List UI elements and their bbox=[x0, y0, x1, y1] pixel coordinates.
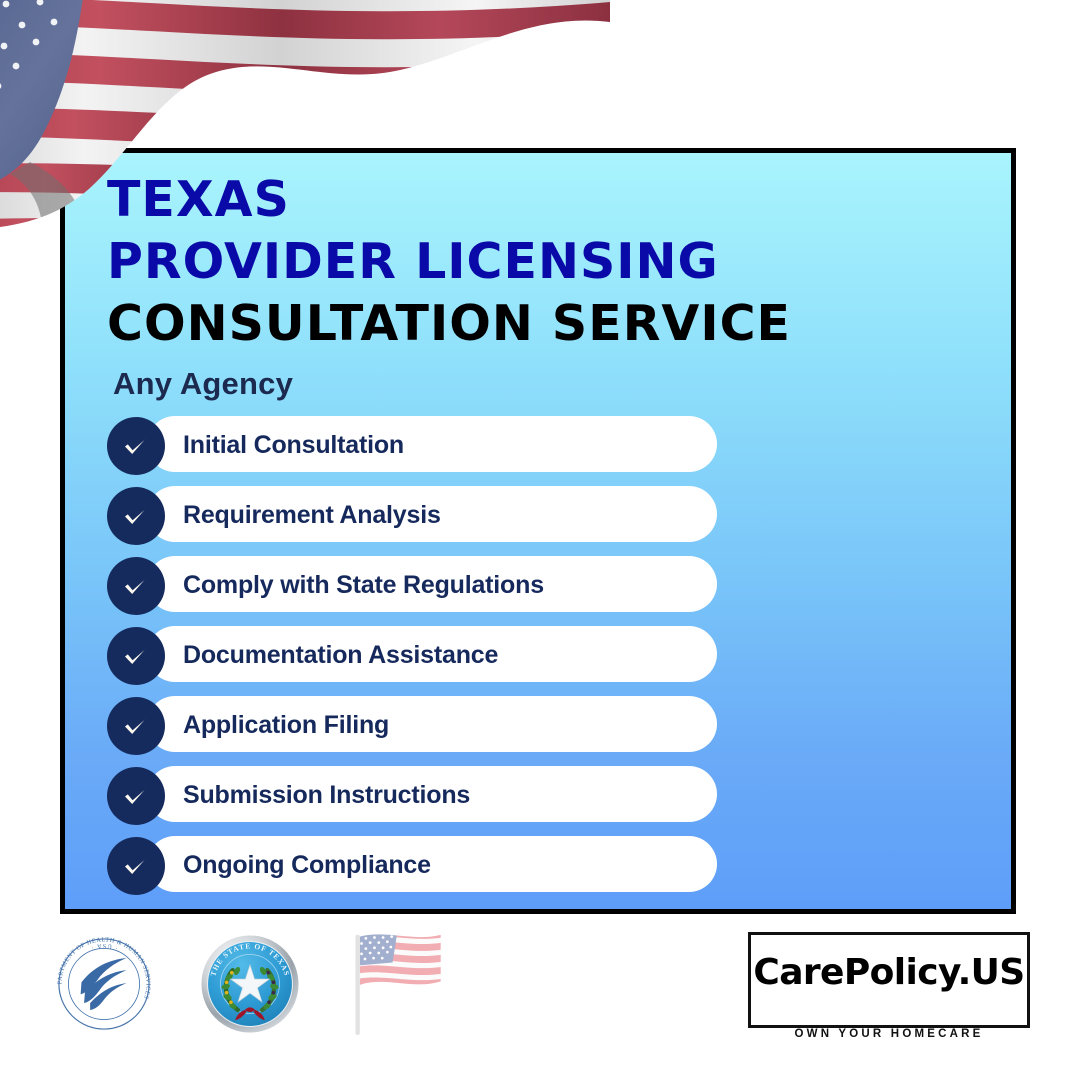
services-checklist: Initial Consultation Requirement Analysi… bbox=[65, 416, 1011, 894]
brand-name: CarePolicy.US bbox=[748, 952, 1030, 993]
texas-state-seal: THE STATE OF TEXAS bbox=[198, 932, 302, 1036]
list-item-label: Submission Instructions bbox=[183, 781, 470, 810]
hhs-seal: DEPARTMENT OF HEALTH & HUMAN SERVICES · … bbox=[52, 932, 156, 1036]
page-title-sub: CONSULTATION SERVICE bbox=[107, 299, 1011, 348]
page-title-state: TEXAS bbox=[107, 175, 1011, 224]
brand-tagline-wrap: OWN YOUR HOMECARE bbox=[783, 1028, 996, 1040]
list-item: Requirement Analysis bbox=[107, 486, 717, 544]
check-icon bbox=[107, 837, 165, 895]
check-icon bbox=[107, 767, 165, 825]
list-item-label: Requirement Analysis bbox=[183, 501, 441, 530]
check-icon bbox=[107, 487, 165, 545]
list-item-label: Initial Consultation bbox=[183, 431, 404, 460]
list-item-label: Comply with State Regulations bbox=[183, 571, 544, 600]
check-icon bbox=[107, 627, 165, 685]
list-item: Documentation Assistance bbox=[107, 626, 717, 684]
list-item: Ongoing Compliance bbox=[107, 836, 717, 894]
brand-tagline: OWN YOUR HOMECARE bbox=[795, 1028, 984, 1040]
page-subtitle: Any Agency bbox=[107, 366, 1011, 402]
check-icon bbox=[107, 557, 165, 615]
offer-card: TEXAS PROVIDER LICENSING CONSULTATION SE… bbox=[60, 148, 1016, 914]
list-item: Initial Consultation bbox=[107, 416, 717, 474]
card-headings: TEXAS PROVIDER LICENSING CONSULTATION SE… bbox=[65, 153, 1011, 402]
list-item: Submission Instructions bbox=[107, 766, 717, 824]
list-item: Comply with State Regulations bbox=[107, 556, 717, 614]
page-title-main: PROVIDER LICENSING bbox=[107, 237, 1011, 286]
agency-seals: DEPARTMENT OF HEALTH & HUMAN SERVICES · … bbox=[52, 928, 448, 1040]
list-item-label: Ongoing Compliance bbox=[183, 851, 431, 880]
us-flag-icon bbox=[344, 928, 448, 1040]
list-item: Application Filing bbox=[107, 696, 717, 754]
check-icon bbox=[107, 697, 165, 755]
list-item-label: Documentation Assistance bbox=[183, 641, 498, 670]
check-icon bbox=[107, 417, 165, 475]
carepolicy-logo: CarePolicy.US OWN YOUR HOMECARE bbox=[748, 932, 1030, 1028]
list-item-label: Application Filing bbox=[183, 711, 389, 740]
